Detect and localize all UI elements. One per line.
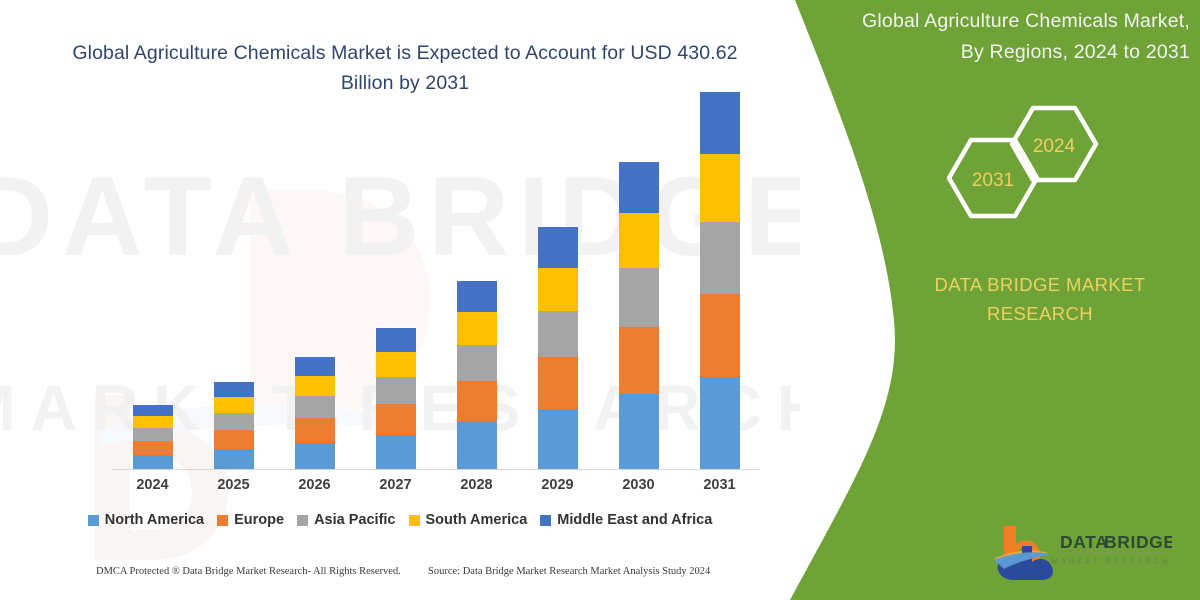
x-axis-label: 2025 <box>204 477 264 493</box>
bar-segment[interactable] <box>700 222 740 294</box>
infographic-canvas: DATA BRIDGE MARKET RESEARCH Global Agric… <box>0 0 1200 600</box>
bar-segment[interactable] <box>538 268 578 311</box>
bar-segment[interactable] <box>538 409 578 469</box>
bar-group[interactable] <box>619 162 659 469</box>
stacked-bar[interactable] <box>376 328 416 469</box>
legend-label: South America <box>426 512 528 528</box>
bar-segment[interactable] <box>700 294 740 377</box>
x-axis-label: 2028 <box>447 477 507 493</box>
legend-swatch-icon <box>540 515 551 526</box>
legend-item[interactable]: North America <box>88 512 204 528</box>
bar-group[interactable] <box>376 328 416 469</box>
data-bridge-logo: DATA BRIDGE MARKET RESEARCH <box>992 522 1172 580</box>
bar-segment[interactable] <box>376 435 416 469</box>
bar-segment[interactable] <box>538 311 578 357</box>
legend-label: North America <box>105 512 204 528</box>
bar-segment[interactable] <box>214 397 254 413</box>
bar-segment[interactable] <box>457 345 497 381</box>
bar-segment[interactable] <box>700 92 740 154</box>
logo-tagline: MARKET RESEARCH <box>1052 557 1171 566</box>
bar-group[interactable] <box>133 405 173 469</box>
panel-title: Global Agriculture Chemicals Market, By … <box>820 6 1190 68</box>
legend-item[interactable]: Asia Pacific <box>297 512 395 528</box>
legend-label: Asia Pacific <box>314 512 395 528</box>
bar-segment[interactable] <box>133 455 173 469</box>
logo-divider <box>1060 552 1162 553</box>
bar-segment[interactable] <box>700 377 740 469</box>
stacked-bar[interactable] <box>619 162 659 469</box>
bar-segment[interactable] <box>538 357 578 409</box>
bar-segment[interactable] <box>619 213 659 268</box>
x-axis-label: 2031 <box>690 477 750 493</box>
bar-group[interactable] <box>457 281 497 469</box>
brand-name-line1: DATA BRIDGE MARKET <box>890 270 1190 299</box>
x-axis-label: 2026 <box>285 477 345 493</box>
stacked-bar[interactable] <box>133 405 173 469</box>
footer-source: Source: Data Bridge Market Research Mark… <box>428 566 710 577</box>
footer: DMCA Protected ® Data Bridge Market Rese… <box>0 566 800 586</box>
bar-segment[interactable] <box>295 443 335 469</box>
bar-segment[interactable] <box>376 404 416 435</box>
bar-segment[interactable] <box>457 421 497 469</box>
bar-segment[interactable] <box>700 154 740 222</box>
panel-title-line2: By Regions, 2024 to 2031 <box>820 37 1190 68</box>
bar-segment[interactable] <box>457 381 497 421</box>
bar-segment[interactable] <box>619 268 659 327</box>
bar-segment[interactable] <box>457 312 497 345</box>
bar-segment[interactable] <box>133 441 173 455</box>
bar-segment[interactable] <box>619 327 659 394</box>
bar-segment[interactable] <box>376 328 416 352</box>
legend-label: Middle East and Africa <box>557 512 712 528</box>
bar-segment[interactable] <box>295 418 335 443</box>
bar-segment[interactable] <box>214 449 254 469</box>
footer-copyright: DMCA Protected ® Data Bridge Market Rese… <box>96 566 401 577</box>
bar-segment[interactable] <box>133 405 173 416</box>
bar-segment[interactable] <box>295 357 335 376</box>
bar-segment[interactable] <box>133 416 173 428</box>
hexagon-badges: 2031 2024 <box>925 100 1115 230</box>
x-axis-label: 2029 <box>528 477 588 493</box>
stacked-bar[interactable] <box>457 281 497 469</box>
legend-swatch-icon <box>217 515 228 526</box>
hexagon-2031-label: 2031 <box>972 170 1014 191</box>
bar-segment[interactable] <box>619 394 659 469</box>
chart-legend: North AmericaEuropeAsia PacificSouth Ame… <box>0 512 800 528</box>
bar-segment[interactable] <box>133 428 173 441</box>
stacked-bar[interactable] <box>214 382 254 469</box>
bar-segment[interactable] <box>214 382 254 397</box>
bar-group[interactable] <box>538 227 578 469</box>
legend-item[interactable]: South America <box>409 512 528 528</box>
stacked-bar[interactable] <box>700 92 740 469</box>
logo-mark <box>994 526 1053 580</box>
bar-segment[interactable] <box>214 430 254 449</box>
bar-segment[interactable] <box>295 396 335 418</box>
logo-word-data: DATA <box>1060 532 1108 552</box>
x-axis-label: 2027 <box>366 477 426 493</box>
legend-item[interactable]: Europe <box>217 512 284 528</box>
legend-label: Europe <box>234 512 284 528</box>
chart-title: Global Agriculture Chemicals Market is E… <box>60 38 750 98</box>
x-axis-labels: 20242025202620272028202920302031 <box>112 477 760 497</box>
legend-swatch-icon <box>88 515 99 526</box>
x-axis-line <box>112 469 760 470</box>
bar-segment[interactable] <box>619 162 659 213</box>
stacked-bar[interactable] <box>538 227 578 469</box>
stacked-bar[interactable] <box>295 357 335 469</box>
legend-swatch-icon <box>297 515 308 526</box>
bar-segment[interactable] <box>376 377 416 404</box>
brand-name: DATA BRIDGE MARKET RESEARCH <box>890 270 1190 328</box>
panel-title-line1: Global Agriculture Chemicals Market, <box>820 6 1190 37</box>
logo-word-bridge: BRIDGE <box>1104 532 1172 552</box>
bar-segment[interactable] <box>376 352 416 377</box>
bar-segment[interactable] <box>214 413 254 430</box>
bar-segment[interactable] <box>457 281 497 312</box>
bar-group[interactable] <box>295 357 335 469</box>
legend-item[interactable]: Middle East and Africa <box>540 512 712 528</box>
bar-segment[interactable] <box>295 376 335 396</box>
bar-group[interactable] <box>214 382 254 469</box>
legend-swatch-icon <box>409 515 420 526</box>
x-axis-label: 2024 <box>123 477 183 493</box>
bar-group[interactable] <box>700 92 740 469</box>
bar-chart-plot-area <box>112 140 760 470</box>
bar-segment[interactable] <box>538 227 578 268</box>
brand-name-line2: RESEARCH <box>890 299 1190 328</box>
x-axis-label: 2030 <box>609 477 669 493</box>
hexagon-2024-label: 2024 <box>1033 136 1076 157</box>
